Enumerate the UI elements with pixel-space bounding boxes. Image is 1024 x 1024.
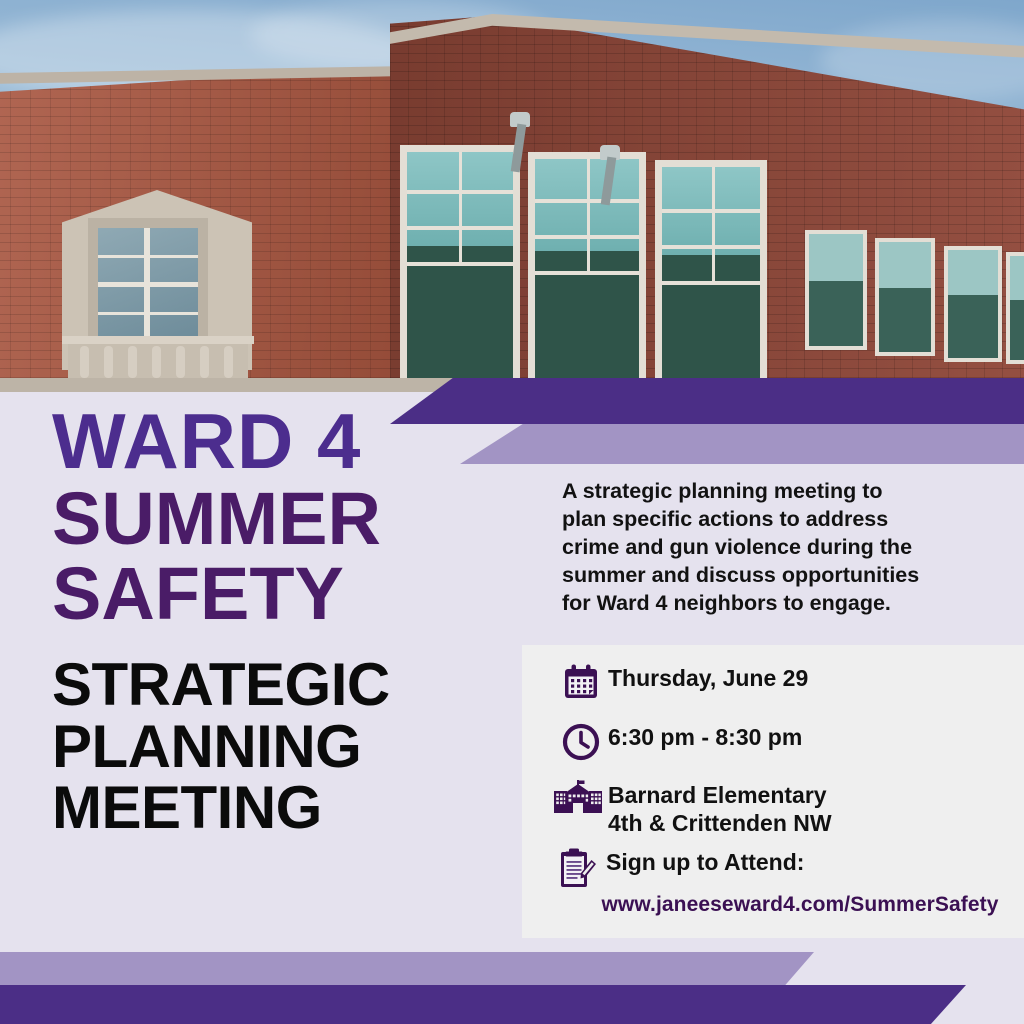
balustrade-rail: [62, 336, 254, 344]
description-line: plan specific actions to address: [562, 506, 992, 534]
detail-row-venue: Barnard Elementary 4th & Crittenden NW: [548, 780, 832, 837]
event-details-panel: Thursday, June 29 6:30 pm - 8:30 pm: [522, 645, 1024, 938]
headline-safety: SAFETY: [52, 556, 522, 631]
window-glass-upper: [809, 234, 863, 281]
baluster: [152, 346, 161, 378]
school-building-photo: [0, 0, 1024, 392]
bottom-banner-stripe-light: [0, 952, 814, 986]
clock-icon: [554, 722, 608, 762]
window-mullion: [144, 228, 150, 338]
window-mullion: [587, 159, 590, 273]
window-mullion: [712, 167, 715, 283]
school-building-icon: [548, 780, 608, 816]
description-text: A strategic planning meeting to plan spe…: [562, 478, 992, 618]
description-line: crime and gun violence during the: [562, 534, 992, 562]
upper-window: [875, 238, 935, 356]
description-line: for Ward 4 neighbors to engage.: [562, 590, 992, 618]
upper-window: [805, 230, 867, 350]
window-mullion: [98, 312, 198, 315]
clipboard-pencil-icon: [552, 847, 606, 891]
headline-ward4: WARD 4: [52, 404, 522, 479]
venue-text: Barnard Elementary 4th & Crittenden NW: [608, 780, 832, 837]
bottom-banner-stripe-dark: [0, 985, 966, 1024]
window-glass-upper: [1010, 256, 1024, 300]
signup-url-link[interactable]: www.janeeseward4.com/SummerSafety: [590, 893, 1010, 917]
venue-address: 4th & Crittenden NW: [608, 810, 832, 836]
event-time: 6:30 pm - 8:30 pm: [608, 722, 802, 752]
storefront-window: [528, 152, 646, 392]
window-mullion: [98, 255, 198, 258]
headline-meeting: MEETING: [52, 777, 522, 839]
top-banner-stripe-light: [460, 424, 1024, 464]
venue-name: Barnard Elementary: [608, 782, 827, 808]
baluster: [224, 346, 233, 378]
detail-row-signup: Sign up to Attend:: [552, 847, 804, 891]
window-mullion: [459, 152, 462, 264]
event-flyer: WARD 4 SUMMER SAFETY STRATEGIC PLANNING …: [0, 0, 1024, 1024]
detail-row-time: 6:30 pm - 8:30 pm: [554, 722, 802, 762]
description-line: A strategic planning meeting to: [562, 478, 992, 506]
window-transom-bar: [662, 281, 760, 285]
window-glass-upper: [879, 242, 931, 288]
upper-window: [944, 246, 1002, 362]
baluster: [104, 346, 113, 378]
event-date: Thursday, June 29: [608, 663, 808, 693]
window-transom-bar: [662, 209, 760, 213]
headline-planning: PLANNING: [52, 716, 522, 778]
calendar-icon: [554, 663, 608, 703]
baluster: [128, 346, 137, 378]
storefront-window: [400, 145, 520, 392]
signup-label: Sign up to Attend:: [606, 847, 804, 877]
headline-strategic: STRATEGIC: [52, 654, 522, 716]
baluster: [80, 346, 89, 378]
baluster: [176, 346, 185, 378]
storefront-window: [655, 160, 767, 392]
window-transom-bar: [662, 245, 760, 249]
upper-window: [1006, 252, 1024, 364]
headline-summer: SUMMER: [52, 481, 522, 556]
window-glass-upper: [948, 250, 998, 295]
headline-block: WARD 4 SUMMER SAFETY STRATEGIC PLANNING …: [52, 404, 522, 839]
baluster: [200, 346, 209, 378]
description-line: summer and discuss opportunities: [562, 562, 992, 590]
detail-row-date: Thursday, June 29: [554, 663, 808, 703]
